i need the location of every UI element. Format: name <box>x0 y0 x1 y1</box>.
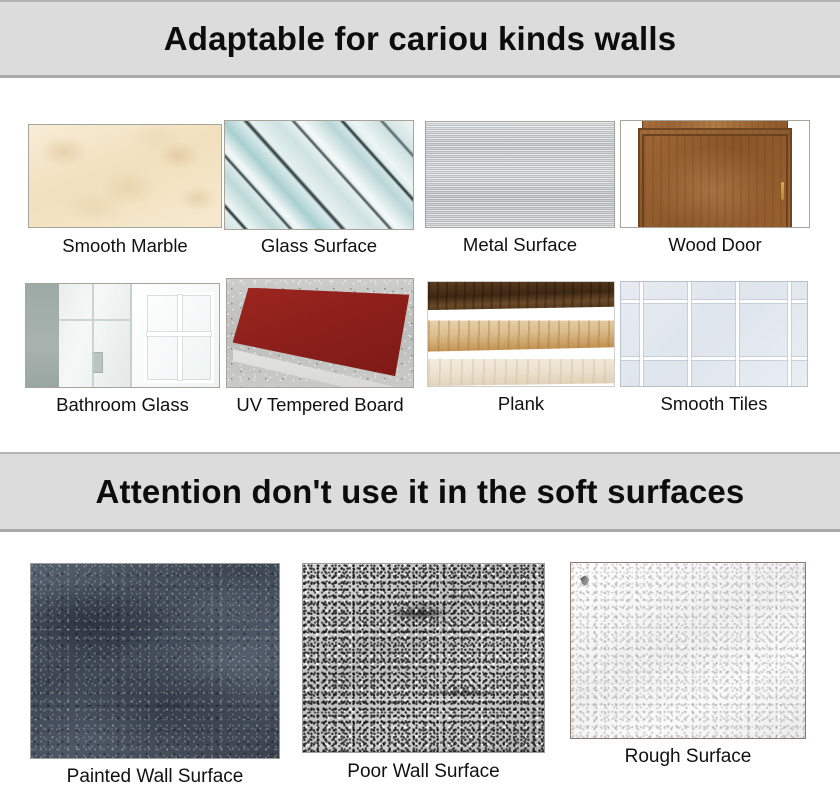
white-stucco-texture <box>571 563 805 738</box>
door-handle-icon <box>781 182 784 200</box>
plank-image <box>427 281 615 387</box>
attention-poor-wall: Poor Wall Surface <box>302 563 545 800</box>
swatch-smooth-marble: Smooth Marble <box>28 124 222 264</box>
smooth-marble-image <box>28 124 222 228</box>
bright-window <box>132 284 219 387</box>
surface-blemish-icon <box>580 575 589 586</box>
poor-wall-label: Poor Wall Surface <box>347 761 499 783</box>
window-mullions <box>144 292 214 383</box>
wood-door-texture <box>621 121 809 227</box>
bathroom-glass-label: Bathroom Glass <box>56 394 189 416</box>
swatch-smooth-tiles: Smooth Tiles <box>620 281 808 423</box>
metal-surface-image <box>425 121 615 228</box>
glass-surface-label: Glass Surface <box>261 235 377 257</box>
plank-label: Plank <box>498 393 544 415</box>
smooth-tiles-image <box>620 281 808 387</box>
attention-painted-wall: Painted Wall Surface <box>30 563 280 800</box>
attention-banner-title: Attention don't use it in the soft surfa… <box>96 473 745 511</box>
plank-dark-board <box>428 282 614 310</box>
plank-light-board <box>428 359 614 386</box>
door-panel-inner <box>642 134 789 227</box>
tile-grout-vertical <box>736 282 739 386</box>
frosted-panel <box>26 284 59 387</box>
tile-grout-vertical <box>640 282 643 386</box>
marble-texture <box>29 125 221 227</box>
plank-texture <box>428 282 614 386</box>
tile-grout-vertical <box>788 282 791 386</box>
tile-grout-vertical <box>688 282 691 386</box>
plank-medium-board <box>428 320 614 351</box>
bathroom-glass-image <box>25 283 220 388</box>
uv-tempered-board-image <box>226 278 414 388</box>
swatch-plank: Plank <box>427 281 615 423</box>
bathroom-glass-texture <box>26 284 219 387</box>
glass-sill <box>92 352 103 373</box>
swatch-metal-surface: Metal Surface <box>425 121 615 264</box>
tile-grout-horizontal <box>621 300 807 303</box>
attention-rough-surface: Rough Surface <box>570 562 806 799</box>
rough-surface-label: Rough Surface <box>625 746 752 768</box>
wood-door-label: Wood Door <box>668 234 761 256</box>
painted-wall-image <box>30 563 280 759</box>
swatch-glass-surface: Glass Surface <box>224 120 414 264</box>
attention-banner: Attention don't use it in the soft surfa… <box>0 452 840 532</box>
metal-texture <box>426 122 614 227</box>
swatch-uv-tempered-board: UV Tempered Board <box>226 278 414 423</box>
smooth-marble-label: Smooth Marble <box>62 235 187 257</box>
painted-wall-label: Painted Wall Surface <box>67 766 244 788</box>
adaptable-banner: Adaptable for cariou kinds walls <box>0 0 840 78</box>
metal-surface-label: Metal Surface <box>463 234 577 256</box>
poor-wall-image <box>302 563 545 753</box>
uv-board-texture <box>227 279 413 387</box>
swatch-wood-door: Wood Door <box>620 120 810 264</box>
wood-door-image <box>620 120 810 228</box>
swatch-bathroom-glass: Bathroom Glass <box>25 283 220 423</box>
glass-texture <box>225 121 413 229</box>
coarse-stucco-texture <box>303 564 544 752</box>
glass-door-panel <box>59 284 132 387</box>
tile-grout-horizontal <box>621 357 807 360</box>
smooth-tiles-label: Smooth Tiles <box>661 393 768 415</box>
adaptable-banner-title: Adaptable for cariou kinds walls <box>164 20 677 58</box>
glass-surface-image <box>224 120 414 230</box>
rough-surface-image <box>570 562 806 739</box>
painted-slate-texture <box>31 564 279 758</box>
tiles-texture <box>621 282 807 386</box>
uv-tempered-board-label: UV Tempered Board <box>236 394 403 416</box>
